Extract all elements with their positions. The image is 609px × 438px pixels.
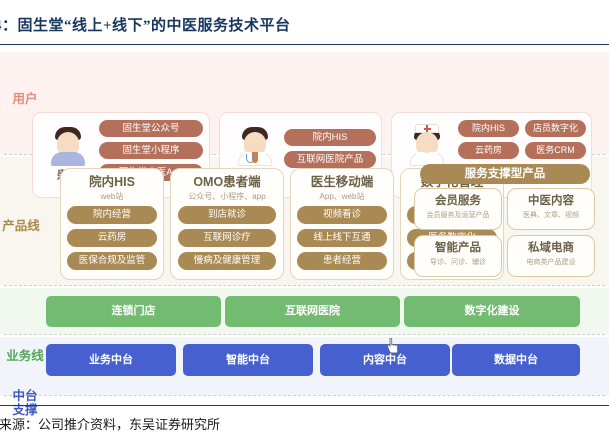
support-card-subtitle: 医典、文章、视频: [508, 210, 594, 220]
support-card-title: 中医内容: [508, 194, 594, 208]
figure-title-row: 24：固生堂“线上+线下”的中医服务技术平台: [0, 14, 609, 40]
support-products-block: 服务支撑型产品 会员服务 会员服务及运营产品 中医内容 医典、文章、视频 智能产…: [412, 164, 598, 284]
business-item-chain-stores[interactable]: 连锁门店: [46, 296, 221, 327]
divider-bottom: [4, 395, 605, 396]
business-item-digital-construction[interactable]: 数字化建设: [404, 296, 580, 327]
doctor-pill-list: 院内HIS 互联网医院产品: [284, 129, 376, 173]
product-item-2[interactable]: 医保合规及监管: [67, 252, 157, 270]
body-shape: [51, 152, 85, 166]
title-divider-top: [0, 44, 609, 45]
red-cross-icon-bar: [424, 128, 431, 130]
product-card-his[interactable]: 院内HIS web站 院内经营 云药房 医保合规及监管: [60, 168, 164, 280]
pill-patient-0[interactable]: 固生堂公众号: [99, 120, 203, 137]
row-label-users: 用户: [0, 92, 56, 106]
stethoscope-icon: [246, 154, 255, 163]
divider-business-middle: [4, 334, 605, 335]
support-card-subtitle: 电商类产品建设: [508, 257, 594, 267]
product-item-1[interactable]: 云药房: [67, 229, 157, 247]
divider-products-business: [4, 285, 605, 286]
middle-platform-data[interactable]: 数据中台: [452, 344, 580, 376]
row-label-middle-line1: 中台: [0, 389, 54, 403]
row-label-products: 产品线: [0, 219, 56, 233]
pill-doctor-0[interactable]: 院内HIS: [284, 129, 376, 146]
support-card-subtitle: 会员服务及运营产品: [415, 210, 501, 220]
page-title: 24：固生堂“线上+线下”的中医服务技术平台: [0, 14, 291, 35]
row-label-middle-platform: 中台 支撑: [0, 389, 54, 417]
product-item-2[interactable]: 慢病及健康管理: [178, 252, 277, 270]
footer-divider: [0, 405, 609, 406]
business-item-internet-hospital[interactable]: 互联网医院: [225, 296, 400, 327]
support-card-member-service[interactable]: 会员服务 会员服务及运营产品: [414, 188, 502, 230]
product-item-0[interactable]: 视频看诊: [297, 206, 387, 224]
pill-staff-1[interactable]: 店员数字化: [525, 120, 586, 137]
support-card-subtitle: 导诊、问诊、辅诊: [415, 257, 501, 267]
pill-patient-1[interactable]: 固生堂小程序: [99, 142, 203, 159]
product-subtitle: web站: [61, 191, 163, 202]
product-card-doctor-mobile[interactable]: 医生移动端 App、web站 视频看诊 线上线下互通 患者经营: [290, 168, 394, 280]
product-title: 医生移动端: [291, 175, 393, 190]
pill-doctor-1[interactable]: 互联网医院产品: [284, 151, 376, 168]
product-subtitle: App、web站: [291, 191, 393, 202]
support-card-title: 会员服务: [415, 194, 501, 208]
pill-staff-2[interactable]: 云药房: [458, 142, 519, 159]
product-title: OMO患者端: [171, 175, 283, 190]
product-item-0[interactable]: 院内经营: [67, 206, 157, 224]
product-card-omo-patient[interactable]: OMO患者端 公众号、小程序、app 到店就诊 互联网诊疗 慢病及健康管理: [170, 168, 284, 280]
support-header: 服务支撑型产品: [420, 164, 590, 184]
source-note: 据来源：公司推介资料，东吴证券研究所: [0, 414, 220, 433]
mouse-cursor-icon: [386, 338, 400, 356]
product-subtitle: 公众号、小程序、app: [171, 191, 283, 202]
middle-platform-business[interactable]: 业务中台: [46, 344, 176, 376]
pill-staff-0[interactable]: 院内HIS: [458, 120, 519, 137]
product-item-1[interactable]: 互联网诊疗: [178, 229, 277, 247]
platform-architecture-diagram: 用户 产品线 业务线 中台 支撑 患者 固生堂公众号 固生堂小程序 固生堂中医A…: [0, 52, 609, 400]
product-item-0[interactable]: 到店就诊: [178, 206, 277, 224]
product-item-1[interactable]: 线上线下互通: [297, 229, 387, 247]
product-item-2[interactable]: 患者经营: [297, 252, 387, 270]
support-card-tcm-content[interactable]: 中医内容 医典、文章、视频: [507, 188, 595, 230]
pill-staff-3[interactable]: 医务CRM: [525, 142, 586, 159]
doctor-avatar-icon: [233, 121, 277, 165]
product-title: 院内HIS: [61, 175, 163, 190]
middle-platform-content[interactable]: 内容中台: [320, 344, 450, 376]
support-card-grid: 会员服务 会员服务及运营产品 中医内容 医典、文章、视频 智能产品 导诊、问诊、…: [414, 188, 598, 277]
support-card-smart-product[interactable]: 智能产品 导诊、问诊、辅诊: [414, 235, 502, 277]
patient-avatar-icon: [46, 121, 90, 165]
support-card-title: 智能产品: [415, 241, 501, 255]
middle-platform-smart[interactable]: 智能中台: [183, 344, 313, 376]
support-card-title: 私域电商: [508, 241, 594, 255]
support-card-private-ecommerce[interactable]: 私域电商 电商类产品建设: [507, 235, 595, 277]
staff-avatar-icon: [405, 121, 449, 165]
